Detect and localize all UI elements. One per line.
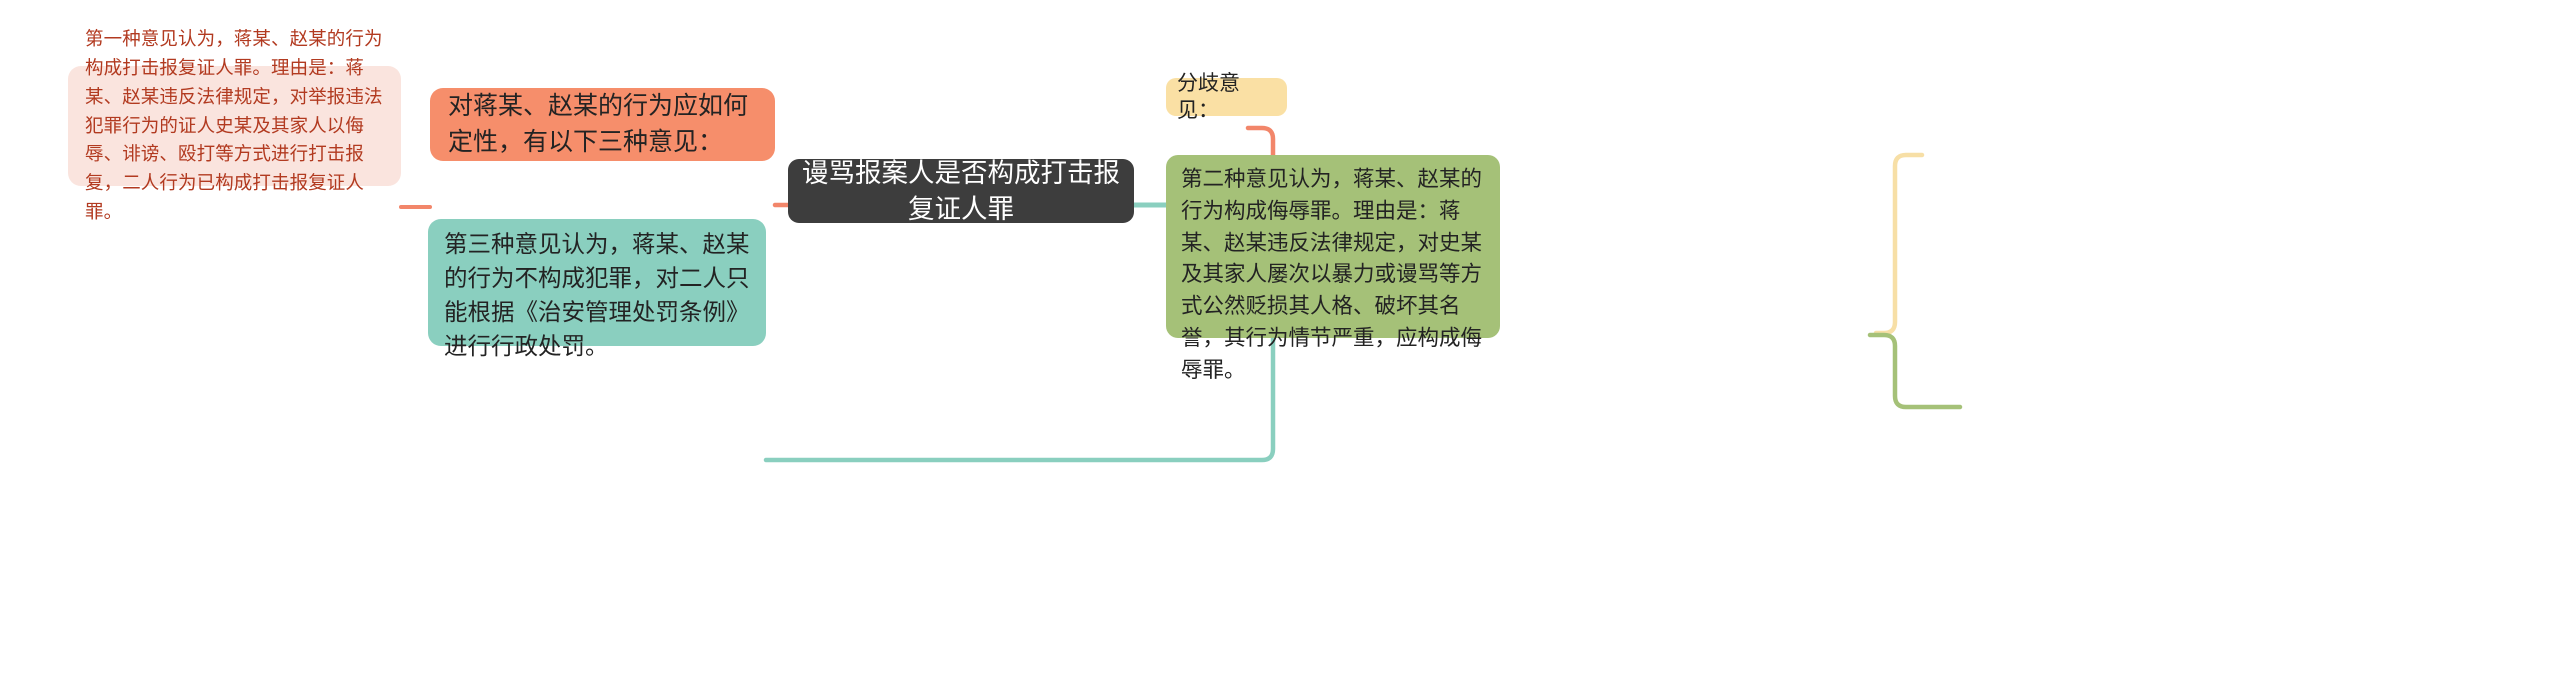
question-node[interactable]: 对蒋某、赵某的行为应如何定性，有以下三种意见： <box>430 88 775 161</box>
first-opinion-node[interactable]: 第一种意见认为，蒋某、赵某的行为构成打击报复证人罪。理由是：蒋某、赵某违反法律规… <box>68 66 401 186</box>
third-opinion-node[interactable]: 第三种意见认为，蒋某、赵某的行为不构成犯罪，对二人只能根据《治安管理处罚条例》进… <box>428 219 766 346</box>
connector-right-spine-to-second <box>1870 335 1960 407</box>
second-opinion-node[interactable]: 第二种意见认为，蒋某、赵某的行为构成侮辱罪。理由是：蒋某、赵某违反法律规定，对史… <box>1166 155 1500 338</box>
divergence-header-node[interactable]: 分歧意见： <box>1166 78 1287 116</box>
mindmap-canvas: 第一种意见认为，蒋某、赵某的行为构成打击报复证人罪。理由是：蒋某、赵某违反法律规… <box>0 0 2560 677</box>
central-topic-node[interactable]: 谩骂报案人是否构成打击报复证人罪 <box>788 159 1134 223</box>
connector-right-spine-to-header <box>1876 155 1922 333</box>
